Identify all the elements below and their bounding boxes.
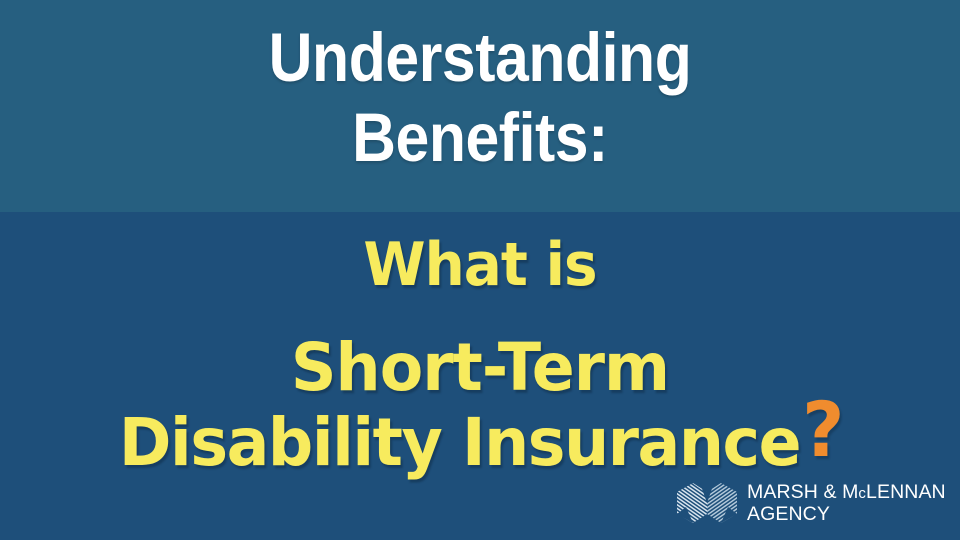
headline-line-1: What is: [29, 230, 931, 300]
title-line-2: Benefits:: [58, 98, 903, 178]
logo-name-part-1: MARSH & M: [747, 481, 858, 503]
question-mark-accent: ?: [802, 385, 843, 474]
page-title: Understanding Benefits:: [0, 18, 960, 178]
headline-line-3: Disability Insurance?: [19, 405, 941, 481]
logo-name-line-1: MARSH & McLENNAN: [747, 482, 946, 504]
logo-wordmark: MARSH & McLENNAN AGENCY: [747, 482, 946, 525]
headline-line-3-text: Disability Insurance: [119, 404, 800, 481]
logo-name-part-2: c: [858, 485, 866, 502]
brand-logo: MARSH & McLENNAN AGENCY: [676, 478, 948, 528]
video-title-slide: Understanding Benefits: What is Short-Te…: [0, 0, 960, 540]
marsh-mclennan-m-mark-icon: [676, 481, 738, 525]
title-line-1: Understanding: [58, 18, 903, 98]
logo-name-line-2: AGENCY: [747, 504, 946, 525]
logo-name-part-3: LENNAN: [866, 481, 946, 503]
